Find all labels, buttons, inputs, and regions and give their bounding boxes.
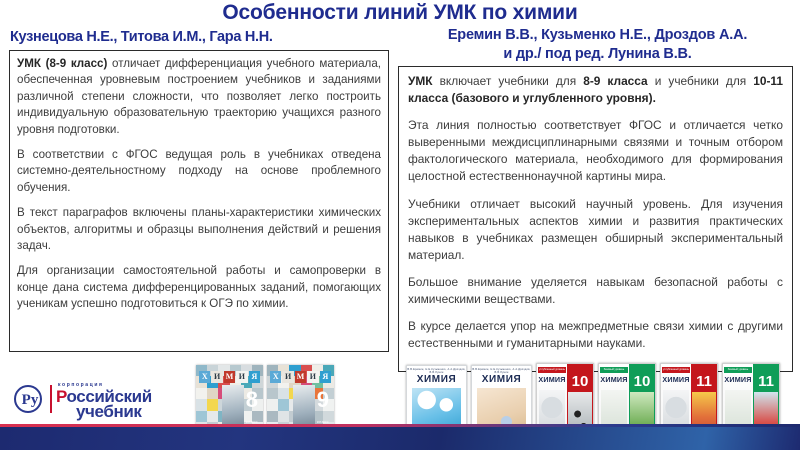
left-paragraph-lead: УМК (8-9 класс): [17, 57, 107, 70]
page-title: Особенности линий УМК по химии: [0, 0, 800, 25]
left-paragraph: В текст параграфов включены планы-характ…: [17, 205, 381, 254]
right-authors-line-2: и др./ под ред. Лунина В.В.: [400, 45, 795, 64]
right-authors-heading: Еремин В.В., Кузьменко Н.Е., Дроздов А.А…: [400, 26, 795, 64]
book-title: ХИМИЯ: [407, 374, 466, 385]
book-title: ХИМИЯ: [270, 371, 331, 383]
book-title: ХИМИЯ: [661, 375, 691, 384]
logo-monogram-text: Ру: [16, 386, 44, 414]
book-title: ХИМИЯ: [723, 375, 753, 384]
right-authors-line-1: Еремин В.В., Кузьменко Н.Е., Дроздов А.А…: [400, 26, 795, 45]
publisher-logo: Ру корпорация Российский учебник: [14, 381, 194, 421]
book-title: ХИМИЯ: [199, 371, 260, 383]
book-level-caption: углубленный уровень: [662, 367, 690, 373]
book-title: ХИМИЯ: [599, 375, 629, 384]
right-paragraph: В курсе делается упор на межпредметные с…: [408, 318, 783, 352]
right-paragraph: Учебники отличает высокий научный уровен…: [408, 196, 783, 264]
right-paragraph: Большое внимание уделяется навыкам безоп…: [408, 274, 783, 308]
right-paragraph: Эта линия полностью соответствует ФГОС и…: [408, 117, 783, 185]
left-paragraph: Для организации самостоятельной работы и…: [17, 263, 381, 312]
right-paragraph: УМК включает учебники для 8-9 класса и у…: [408, 73, 783, 107]
logo-word-uchebnik: учебник: [76, 402, 141, 422]
book-level-caption: базовый уровень: [600, 367, 628, 373]
book-level-caption: базовый уровень: [724, 367, 752, 373]
book-title: ХИМИЯ: [472, 374, 531, 385]
book-level-caption: углубленный уровень: [538, 367, 566, 373]
left-paragraph: В соответствии с ФГОС ведущая роль в уче…: [17, 147, 381, 196]
left-text-box: УМК (8-9 класс) отличает дифференциация …: [9, 50, 389, 352]
left-authors-heading: Кузнецова Н.Е., Титова И.М., Гара Н.Н.: [10, 28, 390, 47]
right-paragraph-emphasis: 8-9 класса: [583, 74, 647, 88]
logo-word-initial: Р: [56, 387, 67, 406]
slide-root: Особенности линий УМК по химии Кузнецова…: [0, 0, 800, 450]
logo-divider: [50, 385, 52, 413]
footer-band: [0, 427, 800, 450]
right-paragraph-emphasis: УМК: [408, 74, 433, 88]
right-text-box: УМК включает учебники для 8-9 класса и у…: [398, 66, 793, 372]
left-paragraph: УМК (8-9 класс) отличает дифференциация …: [17, 56, 381, 138]
logo-monogram-icon: Ру: [14, 385, 42, 413]
book-title: ХИМИЯ: [537, 375, 567, 384]
